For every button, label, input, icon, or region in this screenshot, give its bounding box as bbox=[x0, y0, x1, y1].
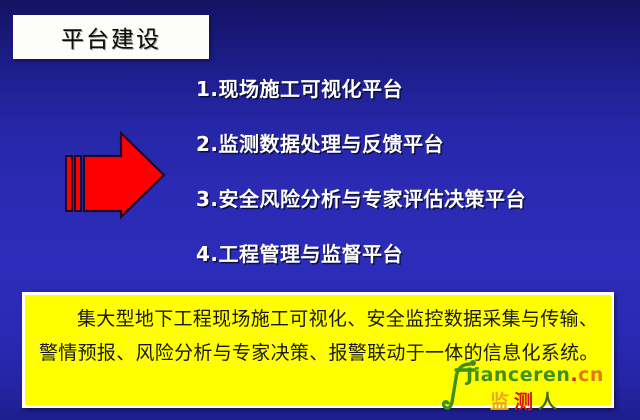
list-item: 4.工程管理与监督平台 bbox=[196, 243, 626, 265]
summary-callout-box: 集大型地下工程现场施工可视化、安全监控数据采集与传输、警情预报、风险分析与专家决… bbox=[22, 292, 614, 408]
list-item: 3.安全风险分析与专家评估决策平台 bbox=[196, 188, 626, 210]
summary-text: 集大型地下工程现场施工可视化、安全监控数据采集与传输、警情预报、风险分析与专家决… bbox=[39, 302, 601, 370]
page-title: 平台建设 bbox=[13, 20, 209, 54]
presentation-slide: 平台建设 1.现场施工可视化平台 2.监测数据处理与反馈平台 3.安全风险分析与… bbox=[0, 0, 640, 420]
list-item: 2.监测数据处理与反馈平台 bbox=[196, 133, 626, 155]
red-right-arrow-icon bbox=[62, 125, 170, 223]
list-item: 1.现场施工可视化平台 bbox=[196, 78, 626, 100]
slide-title-plate: 平台建设 bbox=[13, 15, 209, 59]
bullet-list: 1.现场施工可视化平台 2.监测数据处理与反馈平台 3.安全风险分析与专家评估决… bbox=[196, 78, 626, 265]
